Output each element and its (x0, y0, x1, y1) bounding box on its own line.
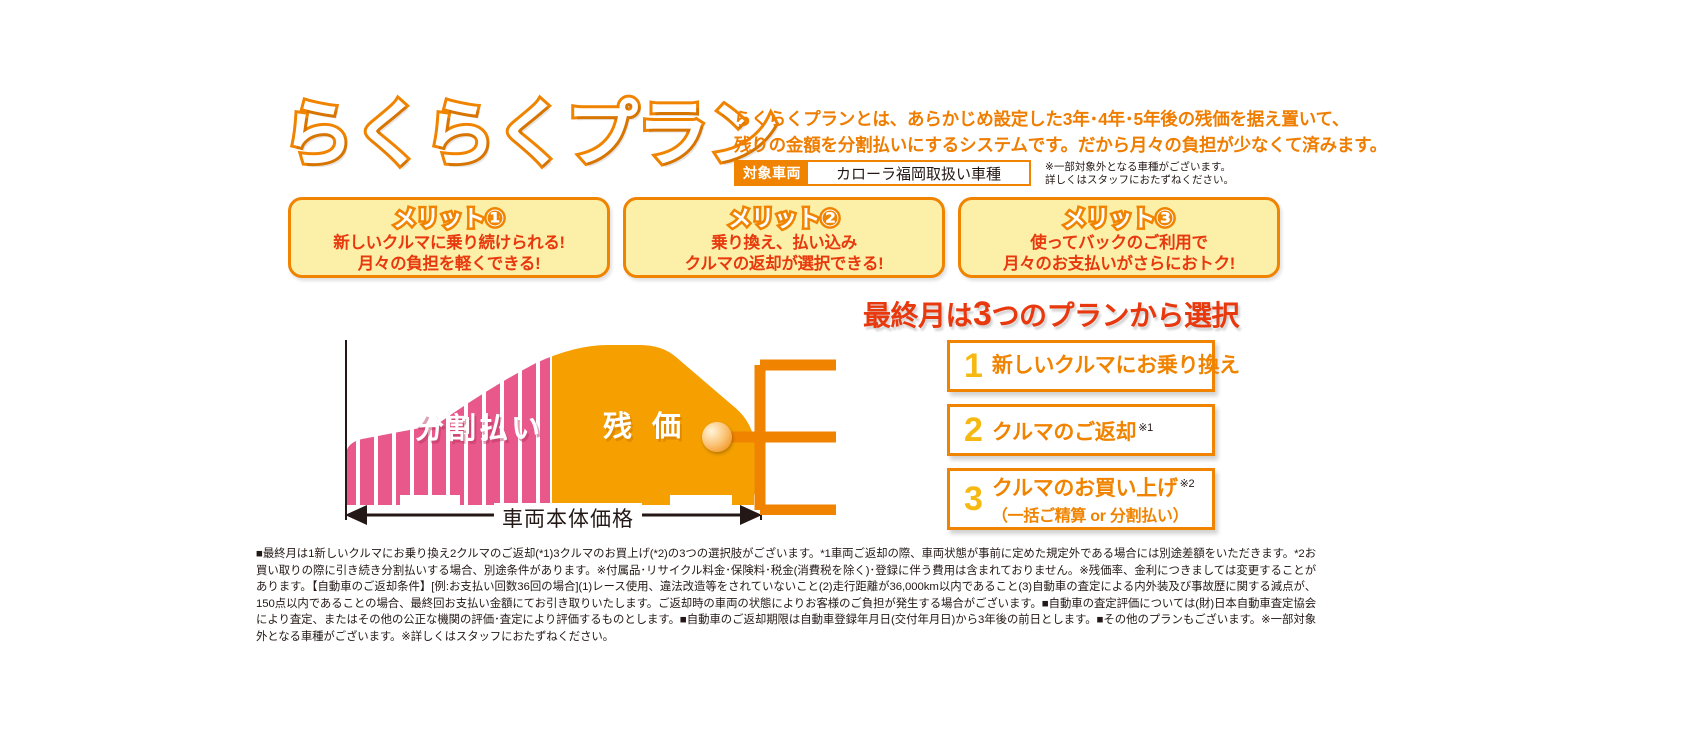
plan-option-1[interactable]: 1 新しいクルマにお乗り換え (947, 340, 1215, 392)
plans-banner: 最終月は3つのプランから選択 (863, 294, 1239, 334)
merit-1-line-1: 新しいクルマに乗り続けられる! (291, 233, 607, 254)
plan-2-number: 2 (964, 413, 983, 447)
merit-3-line-2: 月々のお支払いがさらにおトク! (961, 254, 1277, 275)
measure-rule-left (345, 340, 347, 520)
plan-1-text: 新しいクルマにお乗り換え (992, 354, 1240, 377)
target-vehicle-label: 対象車両 (736, 162, 808, 184)
merit-1-line-2: 月々の負担を軽くできる! (291, 254, 607, 275)
merit-card-1: メリット① 新しいクルマに乗り続けられる! 月々の負担を軽くできる! (288, 197, 610, 278)
plan-1-label: 新しいクルマにお乗り換え (992, 354, 1240, 378)
plan-2-text: クルマのご返却 (992, 421, 1136, 444)
infographic-page: らくらくプラン らくらくプランとは、あらかじめ設定した3年･4年･5年後の残価を… (0, 0, 1700, 751)
plans-banner-number: 3 (973, 295, 991, 333)
plan-1-number: 1 (964, 349, 983, 383)
merit-1-heading: メリット① (291, 204, 607, 232)
target-vehicle-row: 対象車両 カローラ福岡取扱い車種 ※一部対象外となる車種がございます。 詳しくは… (734, 160, 1234, 186)
fine-print-text: ■最終月は1新しいクルマにお乗り換え2クルマのご返却(*1)3クルマのお買上げ(… (256, 546, 1316, 646)
plan-2-footnote-marker: ※1 (1138, 422, 1153, 434)
car-silhouette-icon (340, 335, 770, 515)
merit-card-2: メリット② 乗り換え、払い込み クルマの返却が選択できる! (623, 197, 945, 278)
connector-dot-icon (702, 422, 732, 452)
plan-3-subtext: （一括ご精算 or 分割払い） (992, 502, 1194, 526)
plan-3-label: クルマのお買い上げ※2 (992, 472, 1194, 501)
merit-2-body: 乗り換え、払い込み クルマの返却が選択できる! (626, 233, 942, 275)
lead-line-2: 残りの金額を分割払いにするシステムです。だから月々の負担が少なくて済みます。 (734, 132, 1294, 158)
merit-2-line-1: 乗り換え、払い込み (626, 233, 942, 254)
plans-banner-pre: 最終月は (863, 300, 973, 331)
merit-2-line-2: クルマの返却が選択できる! (626, 254, 942, 275)
target-vehicle-value: カローラ福岡取扱い車種 (808, 162, 1029, 184)
plan-3-footnote-marker: ※2 (1180, 478, 1195, 490)
merit-3-line-1: 使ってバックのご利用で (961, 233, 1277, 254)
fine-print: ■最終月は1新しいクルマにお乗り換え2クルマのご返却(*1)3クルマのお買上げ(… (256, 546, 1316, 646)
merit-3-body: 使ってバックのご利用で 月々のお支払いがさらにおトク! (961, 233, 1277, 275)
price-span-label: 車両本体価格 (494, 503, 642, 533)
merit-1-body: 新しいクルマに乗り続けられる! 月々の負担を軽くできる! (291, 233, 607, 275)
merit-3-heading: メリット③ (961, 204, 1277, 232)
target-note-line-1: ※一部対象外となる車種がございます。 (1045, 161, 1234, 174)
residual-label: 残 価 (603, 403, 687, 445)
plan-option-3[interactable]: 3 クルマのお買い上げ※2 （一括ご精算 or 分割払い） (947, 468, 1215, 530)
page-title: らくらくプラン (282, 92, 712, 178)
car-diagram (340, 335, 770, 515)
installment-label: 分割払い (415, 405, 543, 447)
merit-card-3: メリット③ 使ってバックのご利用で 月々のお支払いがさらにおトク! (958, 197, 1280, 278)
plan-3-number: 3 (964, 482, 983, 516)
target-note-line-2: 詳しくはスタッフにおたずねください。 (1045, 174, 1234, 187)
plans-banner-post: つのプランから選択 (991, 300, 1239, 331)
plan-3-text: クルマのお買い上げ (992, 477, 1178, 500)
plan-option-2[interactable]: 2 クルマのご返却※1 (947, 404, 1215, 456)
target-vehicle-note: ※一部対象外となる車種がございます。 詳しくはスタッフにおたずねください。 (1045, 160, 1234, 186)
bracket-connector-icon (716, 355, 876, 515)
merit-2-heading: メリット② (626, 204, 942, 232)
target-vehicle-box: 対象車両 カローラ福岡取扱い車種 (734, 160, 1031, 186)
lead-line-1: らくらくプランとは、あらかじめ設定した3年･4年･5年後の残価を据え置いて、 (734, 106, 1294, 132)
plan-2-label: クルマのご返却※1 (992, 416, 1153, 445)
installment-region (340, 335, 770, 515)
lead-description: らくらくプランとは、あらかじめ設定した3年･4年･5年後の残価を据え置いて、 残… (734, 106, 1294, 158)
